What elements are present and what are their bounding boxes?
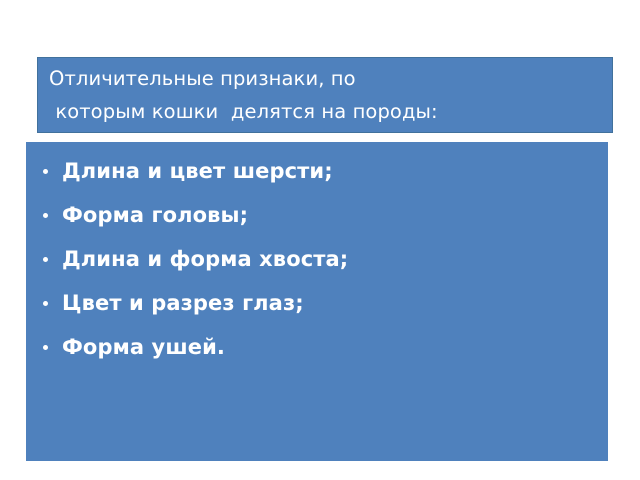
content-placeholder[interactable]: Длина и цвет шерсти; Форма головы; Длина… <box>26 142 608 461</box>
bullet-dot-icon <box>43 301 48 306</box>
list-item: Форма ушей. <box>26 325 608 369</box>
list-item-label: Форма головы; <box>62 193 248 237</box>
list-item: Длина и форма хвоста; <box>26 237 608 281</box>
list-item: Форма головы; <box>26 193 608 237</box>
title-placeholder[interactable]: Отличительные признаки, по которым кошки… <box>37 57 613 133</box>
bullet-dot-icon <box>43 213 48 218</box>
list-item: Длина и цвет шерсти; <box>26 149 608 193</box>
slide-canvas: Отличительные признаки, по которым кошки… <box>0 0 640 480</box>
bullet-dot-icon <box>43 257 48 262</box>
bullet-dot-icon <box>43 345 48 350</box>
list-item-label: Длина и форма хвоста; <box>62 237 348 281</box>
list-item-label: Цвет и разрез глаз; <box>62 281 304 325</box>
list-item: Цвет и разрез глаз; <box>26 281 608 325</box>
list-item-label: Форма ушей. <box>62 325 225 369</box>
bullet-list: Длина и цвет шерсти; Форма головы; Длина… <box>26 149 608 369</box>
page-title: Отличительные признаки, по которым кошки… <box>49 62 609 128</box>
list-item-label: Длина и цвет шерсти; <box>62 149 333 193</box>
bullet-dot-icon <box>43 169 48 174</box>
